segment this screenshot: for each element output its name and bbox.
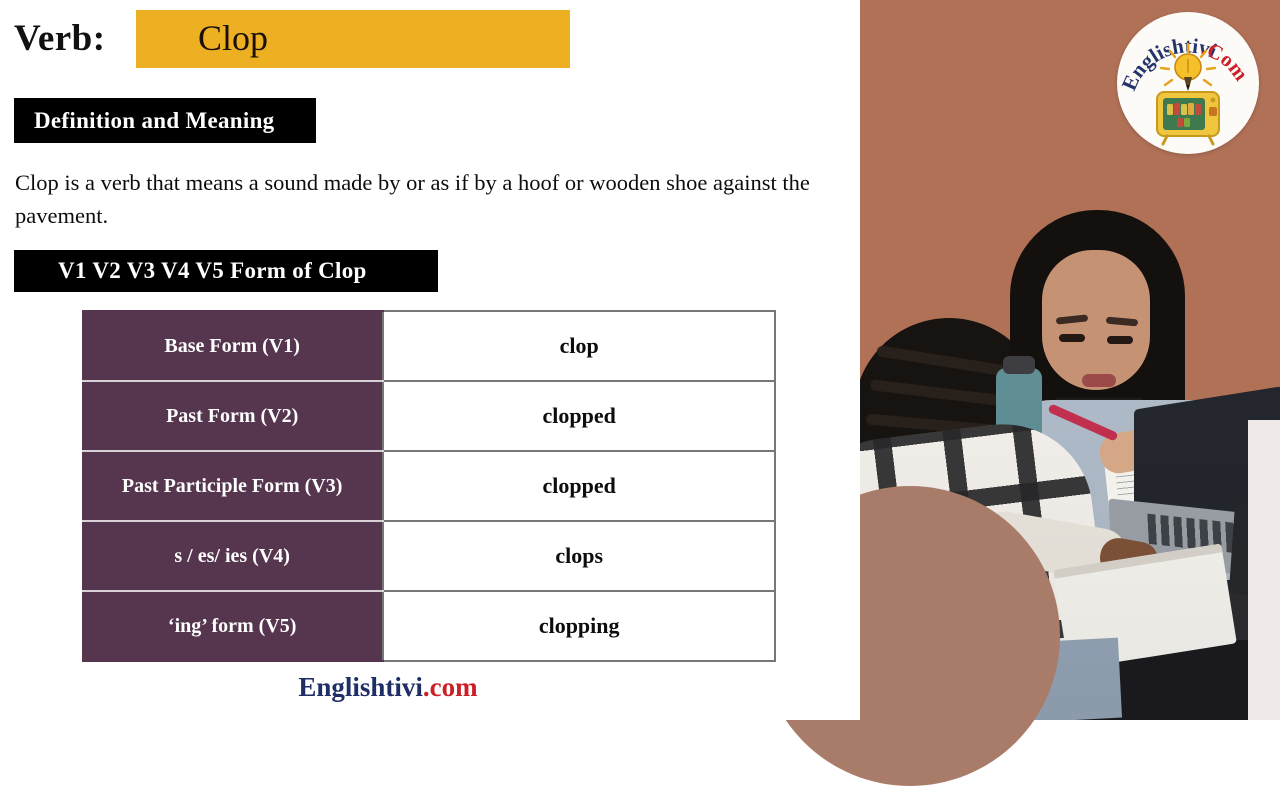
table-row: s / es/ ies (V4) clops <box>82 521 775 591</box>
table-row: Base Form (V1) clop <box>82 311 775 381</box>
form-value: clopped <box>383 381 775 451</box>
logo-graphic: Englishtivi .Com <box>1117 12 1259 154</box>
form-value: clopping <box>383 591 775 661</box>
form-label: Base Form (V1) <box>82 311 383 381</box>
form-value: clop <box>383 311 775 381</box>
form-label: Past Form (V2) <box>82 381 383 451</box>
verb-label: Verb: <box>14 17 106 60</box>
table-row: Past Form (V2) clopped <box>82 381 775 451</box>
verb-title-row: Verb: Clop <box>14 10 574 70</box>
definition-text: Clop is a verb that means a sound made b… <box>15 166 845 232</box>
right-edge-accent-strip <box>1248 420 1280 720</box>
footer-brand: Englishtivi.com <box>0 672 776 703</box>
television-blackboard-icon <box>1157 92 1219 144</box>
table-row: Past Participle Form (V3) clopped <box>82 451 775 521</box>
svg-text:.Com: .Com <box>1199 36 1254 86</box>
lightbulb-icon <box>1161 44 1215 91</box>
forms-banner: V1 V2 V3 V4 V5 Form of Clop <box>14 250 438 292</box>
table-row: ‘ing’ form (V5) clopping <box>82 591 775 661</box>
form-value: clops <box>383 521 775 591</box>
form-label: s / es/ ies (V4) <box>82 521 383 591</box>
verb-forms-table: Base Form (V1) clop Past Form (V2) clopp… <box>82 310 776 662</box>
englishtivi-logo-badge[interactable]: Englishtivi .Com <box>1117 12 1259 154</box>
footer-brand-name: Englishtivi <box>298 672 423 702</box>
content-pane: Verb: Clop Definition and Meaning Clop i… <box>0 0 860 720</box>
form-label: ‘ing’ form (V5) <box>82 591 383 661</box>
footer-brand-tld: .com <box>423 672 478 702</box>
form-label: Past Participle Form (V3) <box>82 451 383 521</box>
verb-highlight-bar: Clop <box>136 10 570 68</box>
form-value: clopped <box>383 451 775 521</box>
definition-banner: Definition and Meaning <box>14 98 316 143</box>
verb-word: Clop <box>198 17 268 59</box>
